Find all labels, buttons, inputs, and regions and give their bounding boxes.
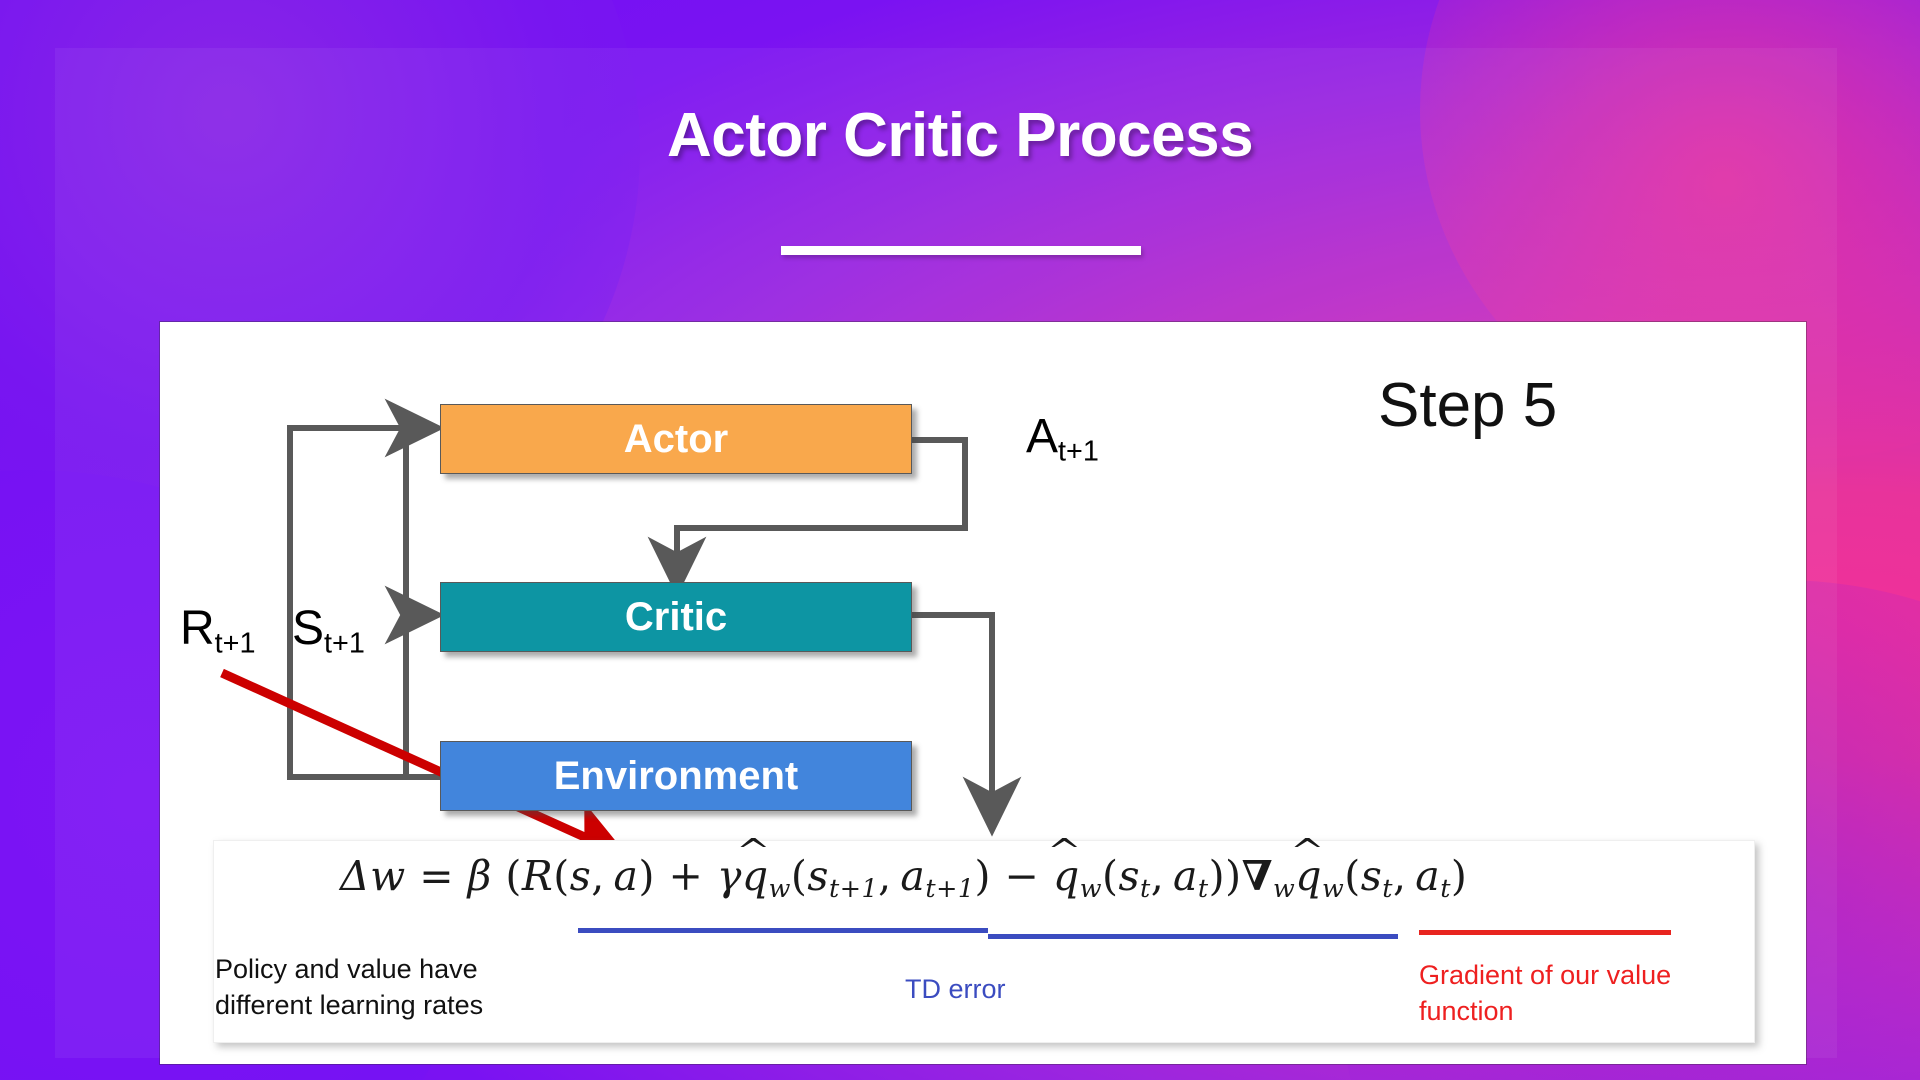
page-title: Actor Critic Process <box>0 100 1920 171</box>
annotation-policy-note: Policy and value have different learning… <box>215 952 483 1023</box>
signal-label-reward: Rt+1 <box>180 605 256 658</box>
title-underline-rule <box>781 246 1141 255</box>
diagram-node-actor[interactable]: Actor <box>440 404 912 474</box>
slide-canvas: Actor Critic Process Actor Cri <box>0 0 1920 1080</box>
td-error-underline-right <box>988 934 1398 939</box>
annotation-td-error: TD error <box>905 972 1006 1008</box>
td-error-underline-left <box>578 928 988 933</box>
diagram-node-environment[interactable]: Environment <box>440 741 912 811</box>
signal-label-state: St+1 <box>292 605 365 658</box>
signal-label-action: At+1 <box>1026 413 1099 466</box>
signal-label-reward-base: R <box>180 602 215 655</box>
signal-label-state-base: S <box>292 602 324 655</box>
diagram-node-environment-label: Environment <box>554 754 798 799</box>
signal-label-action-base: A <box>1026 410 1058 463</box>
diagram-node-critic[interactable]: Critic <box>440 582 912 652</box>
gradient-underline <box>1419 930 1671 935</box>
update-rule-formula: Δw = β (R(s, a) + γqw(st+1, at+1) − qw(s… <box>340 852 1740 903</box>
diagram-node-actor-label: Actor <box>624 417 728 462</box>
signal-label-state-sub: t+1 <box>324 628 365 660</box>
signal-label-reward-sub: t+1 <box>215 628 256 660</box>
diagram-node-critic-label: Critic <box>625 595 727 640</box>
step-indicator: Step 5 <box>1378 370 1557 441</box>
signal-label-action-sub: t+1 <box>1058 436 1099 468</box>
annotation-gradient-note: Gradient of our value function <box>1419 958 1749 1029</box>
